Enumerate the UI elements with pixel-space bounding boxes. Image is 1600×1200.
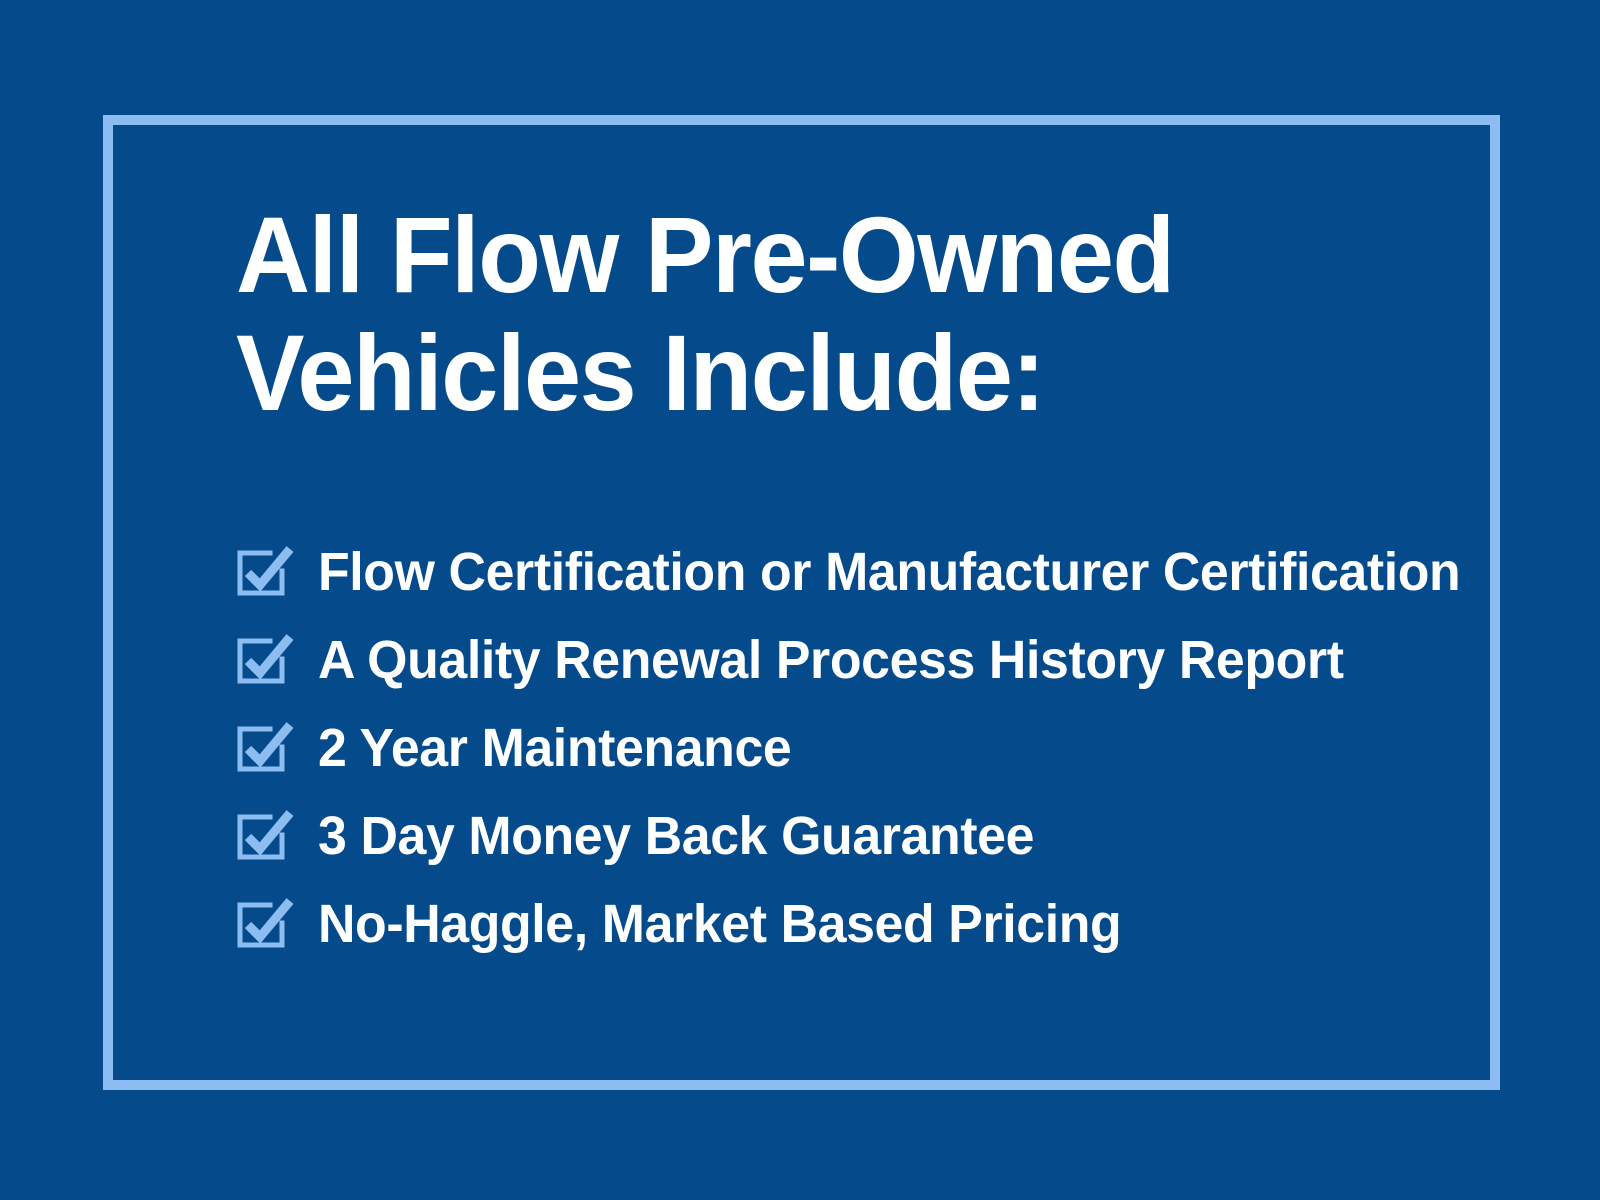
benefits-checklist: Flow Certification or Manufacturer Certi…	[236, 528, 1476, 968]
list-item-label: A Quality Renewal Process History Report	[318, 631, 1344, 689]
page-title: All Flow Pre-Owned Vehicles Include:	[236, 196, 1436, 432]
list-item: 2 Year Maintenance	[236, 704, 1476, 792]
checkbox-checked-icon	[236, 633, 294, 685]
headline-line-1: All Flow Pre-Owned	[236, 196, 1376, 314]
list-item: A Quality Renewal Process History Report	[236, 616, 1476, 704]
list-item-label: Flow Certification or Manufacturer Certi…	[318, 543, 1460, 601]
list-item: 3 Day Money Back Guarantee	[236, 792, 1476, 880]
list-item-label: No-Haggle, Market Based Pricing	[318, 895, 1121, 953]
list-item-label: 2 Year Maintenance	[318, 719, 791, 777]
headline-line-2: Vehicles Include:	[236, 314, 1376, 432]
promo-card: All Flow Pre-Owned Vehicles Include: Flo…	[0, 0, 1600, 1200]
list-item: Flow Certification or Manufacturer Certi…	[236, 528, 1476, 616]
checkbox-checked-icon	[236, 545, 294, 597]
checkbox-checked-icon	[236, 897, 294, 949]
checkbox-checked-icon	[236, 721, 294, 773]
list-item: No-Haggle, Market Based Pricing	[236, 880, 1476, 968]
checkbox-checked-icon	[236, 809, 294, 861]
list-item-label: 3 Day Money Back Guarantee	[318, 807, 1034, 865]
